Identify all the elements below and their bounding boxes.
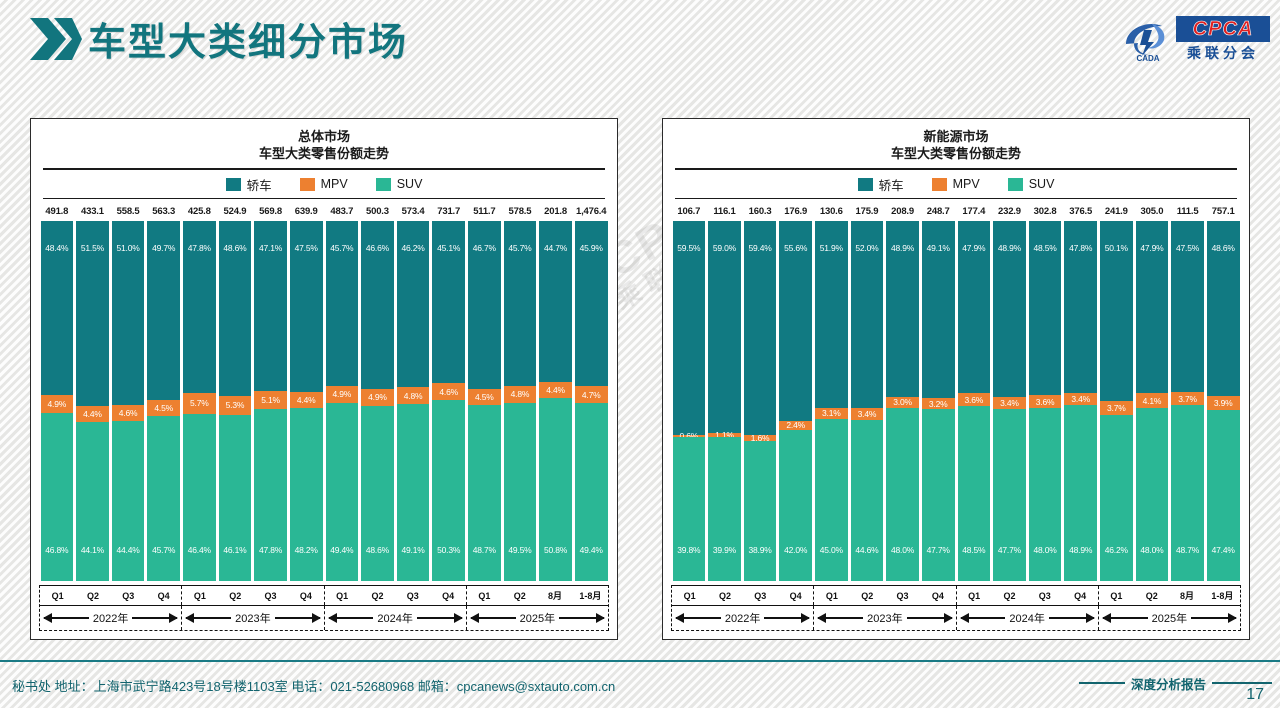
- bar-column[interactable]: 46.7%4.5%48.7%: [468, 221, 501, 581]
- bar-segment-label: 3.9%: [1214, 398, 1233, 408]
- bar-segment-suv[interactable]: 49.4%: [575, 403, 608, 581]
- bar-segment-label: 52.0%: [855, 243, 878, 253]
- bar-segment-mpv[interactable]: 5.7%: [183, 393, 216, 414]
- bar-segment-car[interactable]: 51.0%: [112, 221, 145, 405]
- bar-segment-car[interactable]: 59.0%: [708, 221, 741, 433]
- legend-swatch-car-icon: [858, 178, 873, 191]
- bar-segment-car[interactable]: 47.5%: [1171, 221, 1204, 392]
- legend-swatch-suv-icon: [1008, 178, 1023, 191]
- total-value: 433.1: [75, 206, 111, 217]
- bar-segment-mpv[interactable]: 3.2%: [922, 398, 955, 410]
- bar-column[interactable]: 47.9%4.1%48.0%: [1136, 221, 1169, 581]
- bar-segment-car[interactable]: 47.5%: [290, 221, 323, 392]
- total-value: 176.9: [778, 206, 814, 217]
- total-value: 177.4: [956, 206, 992, 217]
- legend-swatch-suv-icon: [376, 178, 391, 191]
- total-value: 106.7: [671, 206, 707, 217]
- bar-segment-mpv[interactable]: 4.9%: [361, 389, 394, 407]
- total-value: 511.7: [467, 206, 503, 217]
- axis-tick-label: Q4: [288, 586, 324, 605]
- page-number: 17: [1246, 686, 1264, 704]
- bar-segment-suv[interactable]: 45.7%: [147, 416, 180, 581]
- bar-segment-label: 47.8%: [259, 545, 282, 555]
- bar-segment-mpv[interactable]: 4.6%: [432, 383, 465, 400]
- total-value: 425.8: [182, 206, 218, 217]
- axis-year-label: 2023年: [863, 610, 906, 626]
- bar-segment-car[interactable]: 47.8%: [1064, 221, 1097, 393]
- bar-column[interactable]: 47.5%4.4%48.2%: [290, 221, 323, 581]
- legend-item-mpv: MPV: [932, 177, 980, 191]
- total-value: 573.4: [395, 206, 431, 217]
- bar-segment-label: 47.9%: [1140, 243, 1163, 253]
- bar-segment-suv[interactable]: 45.0%: [815, 419, 848, 581]
- bar-segment-suv[interactable]: 50.3%: [432, 400, 465, 581]
- bar-column[interactable]: 55.6%2.4%42.0%: [779, 221, 812, 581]
- axis-year-group: 2022年: [40, 606, 182, 630]
- bar-column[interactable]: 45.9%4.7%49.4%: [575, 221, 608, 581]
- bar-segment-car[interactable]: 47.8%: [183, 221, 216, 393]
- bar-column[interactable]: 51.0%4.6%44.4%: [112, 221, 145, 581]
- bar-segment-suv[interactable]: 47.7%: [993, 409, 1026, 581]
- bar-segment-label: 50.1%: [1105, 243, 1128, 253]
- bar-segment-mpv[interactable]: 3.4%: [993, 397, 1026, 409]
- bar-segment-mpv[interactable]: 3.1%: [815, 408, 848, 419]
- bar-column[interactable]: 59.0%1.1%39.9%: [708, 221, 741, 581]
- bar-segment-mpv[interactable]: 4.9%: [326, 386, 359, 404]
- bar-segment-mpv[interactable]: 3.9%: [1207, 396, 1240, 410]
- bar-column[interactable]: 59.5%0.6%39.8%: [673, 221, 706, 581]
- bar-segment-label: 47.4%: [1212, 545, 1235, 555]
- bar-segment-mpv[interactable]: 3.0%: [886, 397, 919, 408]
- bar-segment-suv[interactable]: 48.7%: [1171, 405, 1204, 580]
- axis-tick-label: Q1: [467, 586, 502, 605]
- chart-subtitle: 车型大类零售份额走势: [31, 145, 617, 162]
- bar-column[interactable]: 49.1%3.2%47.7%: [922, 221, 955, 581]
- bar-segment-mpv[interactable]: 4.6%: [112, 405, 145, 422]
- totals-row: 106.7116.1160.3176.9130.6175.9208.9248.7…: [663, 201, 1249, 221]
- axis-tick-label: Q3: [111, 586, 146, 605]
- bar-segment-car[interactable]: 51.5%: [76, 221, 109, 406]
- bar-column[interactable]: 45.7%4.8%49.5%: [504, 221, 537, 581]
- bar-segment-label: 5.3%: [226, 400, 245, 410]
- chart-panel-nev: 新能源市场 车型大类零售份额走势 轿车 MPV SUV 106.7116.116…: [662, 118, 1250, 640]
- svg-text:CADA: CADA: [1136, 54, 1159, 62]
- bar-segment-label: 49.1%: [402, 545, 425, 555]
- logo-wordmark: CPCA 乘联分会: [1176, 16, 1270, 64]
- axis-year-group: 2025年: [1099, 606, 1240, 630]
- axis-year-group: 2024年: [957, 606, 1099, 630]
- bar-segment-label: 4.9%: [48, 399, 67, 409]
- bar-segment-label: 47.1%: [259, 243, 282, 253]
- bar-segment-car[interactable]: 50.1%: [1100, 221, 1133, 401]
- chart-legend: 轿车 MPV SUV: [663, 170, 1249, 198]
- bar-segment-car[interactable]: 48.9%: [886, 221, 919, 397]
- bar-segment-car[interactable]: 48.9%: [993, 221, 1026, 397]
- bar-segment-label: 51.0%: [117, 243, 140, 253]
- bar-segment-suv[interactable]: 49.1%: [397, 404, 430, 581]
- legend-swatch-car-icon: [226, 178, 241, 191]
- bar-segment-mpv[interactable]: 4.9%: [41, 395, 74, 413]
- bar-segment-label: 47.5%: [295, 243, 318, 253]
- footer-divider: [0, 660, 1280, 662]
- bar-segment-label: 3.7%: [1107, 403, 1126, 413]
- bar-segment-label: 48.7%: [1176, 545, 1199, 555]
- total-value: 130.6: [814, 206, 850, 217]
- total-value: 757.1: [1205, 206, 1241, 217]
- bar-column[interactable]: 50.1%3.7%46.2%: [1100, 221, 1133, 581]
- total-value: 175.9: [849, 206, 885, 217]
- bar-segment-car[interactable]: 45.1%: [432, 221, 465, 383]
- bar-segment-mpv[interactable]: 5.1%: [254, 391, 287, 409]
- legend-label-car: 轿车: [879, 175, 904, 194]
- total-value: 241.9: [1099, 206, 1135, 217]
- bar-segment-suv[interactable]: 50.8%: [539, 398, 572, 581]
- bar-segment-label: 47.5%: [1176, 243, 1199, 253]
- bar-column[interactable]: 48.9%3.4%47.7%: [993, 221, 1026, 581]
- chart-title: 新能源市场: [663, 128, 1249, 145]
- axis-tick-row: Q1Q2Q3Q4Q1Q2Q3Q4Q1Q2Q3Q4Q1Q28月1-8月: [40, 586, 608, 606]
- bar-column[interactable]: 48.4%4.9%46.8%: [41, 221, 74, 581]
- bar-segment-suv[interactable]: 47.7%: [922, 409, 955, 581]
- bar-column[interactable]: 47.8%3.4%48.9%: [1064, 221, 1097, 581]
- bar-segment-car[interactable]: 46.7%: [468, 221, 501, 389]
- bar-segment-mpv[interactable]: 4.4%: [76, 406, 109, 422]
- axis-tick-label: Q1: [40, 586, 75, 605]
- legend-label-suv: SUV: [397, 177, 423, 191]
- bar-segment-label: 59.0%: [713, 243, 736, 253]
- bar-segment-car[interactable]: 47.1%: [254, 221, 287, 391]
- bar-segment-suv[interactable]: 48.0%: [1136, 408, 1169, 581]
- bar-column[interactable]: 59.4%1.6%38.9%: [744, 221, 777, 581]
- logo-sub-text: 乘联分会: [1176, 43, 1270, 63]
- legend-label-car: 轿车: [247, 175, 272, 194]
- axis-year-row: 2022年2023年2024年2025年: [672, 606, 1240, 630]
- axis-tick-label: Q2: [75, 586, 110, 605]
- total-value: 208.9: [885, 206, 921, 217]
- axis-tick-label: Q1: [672, 586, 707, 605]
- bar-segment-suv[interactable]: 49.5%: [504, 403, 537, 581]
- bar-segment-mpv[interactable]: 4.5%: [147, 400, 180, 416]
- bar-segment-car[interactable]: 48.6%: [219, 221, 252, 396]
- bar-segment-suv[interactable]: 48.6%: [361, 406, 394, 581]
- bar-segment-mpv[interactable]: 4.5%: [468, 389, 501, 405]
- bar-segment-mpv[interactable]: 3.6%: [958, 393, 991, 406]
- bar-segment-label: 45.9%: [580, 243, 603, 253]
- bar-segment-label: 5.7%: [190, 398, 209, 408]
- bar-segment-label: 48.6%: [366, 545, 389, 555]
- bar-segment-label: 48.6%: [1212, 243, 1235, 253]
- total-value: 305.0: [1134, 206, 1170, 217]
- bar-segment-car[interactable]: 47.9%: [1136, 221, 1169, 393]
- bar-segment-mpv[interactable]: 2.4%: [779, 421, 812, 430]
- footer-rule-right: [1212, 682, 1272, 684]
- bar-segment-label: 46.2%: [402, 243, 425, 253]
- bar-segment-label: 45.7%: [152, 545, 175, 555]
- bar-column[interactable]: 46.6%4.9%48.6%: [361, 221, 394, 581]
- axis-tick-label: Q3: [395, 586, 430, 605]
- bar-segment-label: 46.2%: [1105, 545, 1128, 555]
- bar-segment-label: 47.7%: [927, 545, 950, 555]
- bar-segment-suv[interactable]: 48.2%: [290, 408, 323, 581]
- bar-segment-car[interactable]: 45.7%: [504, 221, 537, 386]
- bar-segment-label: 49.7%: [152, 243, 175, 253]
- bar-segment-label: 3.6%: [965, 395, 984, 405]
- legend-label-mpv: MPV: [953, 177, 980, 191]
- bar-column[interactable]: 45.7%4.9%49.4%: [326, 221, 359, 581]
- bar-segment-label: 44.1%: [81, 545, 104, 555]
- bar-segment-suv[interactable]: 49.4%: [326, 403, 359, 581]
- legend-item-car: 轿车: [858, 175, 904, 194]
- total-value: 578.5: [502, 206, 538, 217]
- bar-segment-label: 48.9%: [1069, 545, 1092, 555]
- bar-column[interactable]: 45.1%4.6%50.3%: [432, 221, 465, 581]
- axis-tick-label: Q1: [957, 586, 992, 605]
- axis-tick-label: Q2: [502, 586, 537, 605]
- bar-segment-label: 48.4%: [45, 243, 68, 253]
- legend-label-suv: SUV: [1029, 177, 1055, 191]
- axis-tick-label: Q4: [920, 586, 956, 605]
- bar-segment-label: 46.4%: [188, 545, 211, 555]
- bar-segment-mpv[interactable]: 5.3%: [219, 396, 252, 415]
- bar-segment-label: 44.4%: [117, 545, 140, 555]
- bars-row: 48.4%4.9%46.8%51.5%4.4%44.1%51.0%4.6%44.…: [31, 221, 617, 581]
- bar-segment-suv[interactable]: 44.4%: [112, 421, 145, 581]
- total-value: 201.8: [538, 206, 574, 217]
- bar-segment-label: 3.6%: [1036, 397, 1055, 407]
- bar-segment-label: 45.7%: [508, 243, 531, 253]
- bar-segment-suv[interactable]: 39.9%: [708, 437, 741, 581]
- bar-segment-mpv[interactable]: 4.8%: [504, 386, 537, 403]
- bar-segment-label: 51.5%: [81, 243, 104, 253]
- bar-segment-car[interactable]: 48.4%: [41, 221, 74, 395]
- bar-segment-mpv[interactable]: 3.4%: [851, 408, 884, 420]
- footer-rule-left: [1079, 682, 1125, 684]
- axis-tick-label: Q4: [778, 586, 814, 605]
- bar-column[interactable]: 51.5%4.4%44.1%: [76, 221, 109, 581]
- bar-segment-suv[interactable]: 38.9%: [744, 441, 777, 581]
- bar-segment-label: 4.1%: [1143, 396, 1162, 406]
- bar-segment-suv[interactable]: 46.4%: [183, 414, 216, 581]
- bar-segment-mpv[interactable]: 4.4%: [290, 392, 323, 408]
- bar-column[interactable]: 49.7%4.5%45.7%: [147, 221, 180, 581]
- axis-tick-row: Q1Q2Q3Q4Q1Q2Q3Q4Q1Q2Q3Q4Q1Q28月1-8月: [672, 586, 1240, 606]
- legend-item-suv: SUV: [1008, 177, 1055, 191]
- bar-segment-label: 48.0%: [891, 545, 914, 555]
- bar-segment-car[interactable]: 45.9%: [575, 221, 608, 386]
- axis-year-group: 2025年: [467, 606, 608, 630]
- bar-segment-label: 50.8%: [544, 545, 567, 555]
- bar-segment-label: 47.8%: [1069, 243, 1092, 253]
- bar-segment-label: 3.4%: [1071, 394, 1090, 404]
- slide-header: 车型大类细分市场 CADA CPCA 乘联分会: [0, 0, 1280, 88]
- slide-footer: 秘书处 地址：上海市武宁路423号18号楼1103室 电话：021-526809…: [0, 658, 1280, 708]
- bar-column[interactable]: 47.5%3.7%48.7%: [1171, 221, 1204, 581]
- bar-segment-mpv[interactable]: 4.4%: [539, 382, 572, 398]
- total-value: 248.7: [920, 206, 956, 217]
- bar-segment-label: 49.5%: [508, 545, 531, 555]
- bar-segment-suv[interactable]: 47.4%: [1207, 410, 1240, 581]
- bar-column[interactable]: 47.1%5.1%47.8%: [254, 221, 287, 581]
- total-value: 160.3: [742, 206, 778, 217]
- bar-column[interactable]: 48.6%5.3%46.1%: [219, 221, 252, 581]
- bar-segment-suv[interactable]: 48.0%: [1029, 408, 1062, 581]
- total-value: 116.1: [707, 206, 743, 217]
- bar-segment-suv[interactable]: 48.9%: [1064, 405, 1097, 581]
- bar-segment-label: 4.4%: [546, 385, 565, 395]
- bar-segment-suv[interactable]: 46.2%: [1100, 415, 1133, 581]
- chart-subtitle: 车型大类零售份额走势: [663, 145, 1249, 162]
- bar-segment-label: 39.9%: [713, 545, 736, 555]
- bar-segment-suv[interactable]: 42.0%: [779, 430, 812, 581]
- bar-segment-mpv[interactable]: 4.8%: [397, 387, 430, 404]
- bar-segment-suv[interactable]: 46.8%: [41, 413, 74, 581]
- bar-segment-label: 3.0%: [893, 397, 912, 407]
- bar-segment-car[interactable]: 44.7%: [539, 221, 572, 382]
- total-value: 302.8: [1027, 206, 1063, 217]
- axis-year-label: 2025年: [1148, 610, 1191, 626]
- bar-segment-label: 46.1%: [223, 545, 246, 555]
- bar-segment-mpv[interactable]: 4.1%: [1136, 393, 1169, 408]
- axis-tick-label: Q3: [743, 586, 778, 605]
- bar-segment-mpv[interactable]: 3.4%: [1064, 393, 1097, 405]
- bar-segment-suv[interactable]: 48.7%: [468, 405, 501, 580]
- bar-segment-label: 59.5%: [677, 243, 700, 253]
- bar-segment-suv[interactable]: 48.0%: [886, 408, 919, 581]
- logo-brand-text: CPCA: [1176, 16, 1270, 42]
- bar-segment-label: 45.1%: [437, 243, 460, 253]
- bar-column[interactable]: 46.2%4.8%49.1%: [397, 221, 430, 581]
- total-value: 563.3: [146, 206, 182, 217]
- bar-segment-label: 39.8%: [677, 545, 700, 555]
- bar-segment-label: 38.9%: [749, 545, 772, 555]
- axis-tick-label: 8月: [537, 586, 572, 605]
- axis-tick-label: Q1: [325, 586, 360, 605]
- bar-segment-car[interactable]: 48.5%: [1029, 221, 1062, 395]
- axis-year-row: 2022年2023年2024年2025年: [40, 606, 608, 630]
- axis-year-label: 2022年: [721, 610, 764, 626]
- bar-segment-mpv[interactable]: 4.7%: [575, 386, 608, 403]
- cpca-logo: CADA CPCA 乘联分会: [1122, 14, 1270, 66]
- bar-segment-label: 47.7%: [998, 545, 1021, 555]
- bar-column[interactable]: 48.9%3.0%48.0%: [886, 221, 919, 581]
- bar-segment-car[interactable]: 46.2%: [397, 221, 430, 387]
- bar-segment-mpv[interactable]: 3.7%: [1171, 392, 1204, 405]
- bar-segment-car[interactable]: 55.6%: [779, 221, 812, 421]
- axis-year-label: 2024年: [373, 610, 416, 626]
- bar-segment-label: 4.6%: [119, 408, 138, 418]
- axis-year-label: 2025年: [516, 610, 559, 626]
- bar-segment-suv[interactable]: 44.1%: [76, 422, 109, 581]
- bar-segment-label: 44.6%: [855, 545, 878, 555]
- bar-segment-label: 47.8%: [188, 243, 211, 253]
- bar-segment-label: 44.7%: [544, 243, 567, 253]
- bar-segment-label: 3.4%: [858, 409, 877, 419]
- bar-segment-label: 47.9%: [962, 243, 985, 253]
- bar-segment-label: 48.5%: [1034, 243, 1057, 253]
- bar-column[interactable]: 44.7%4.4%50.8%: [539, 221, 572, 581]
- bar-segment-suv[interactable]: 44.6%: [851, 420, 884, 581]
- total-value: 524.9: [217, 206, 253, 217]
- axis-tick-label: Q3: [253, 586, 288, 605]
- bar-segment-label: 4.8%: [404, 391, 423, 401]
- bar-segment-car[interactable]: 59.4%: [744, 221, 777, 435]
- legend-item-mpv: MPV: [300, 177, 348, 191]
- bar-column[interactable]: 47.8%5.7%46.4%: [183, 221, 216, 581]
- bar-segment-car[interactable]: 49.7%: [147, 221, 180, 400]
- bar-segment-label: 3.7%: [1178, 394, 1197, 404]
- bar-segment-car[interactable]: 49.1%: [922, 221, 955, 398]
- bar-segment-car[interactable]: 47.9%: [958, 221, 991, 393]
- bar-segment-mpv[interactable]: 3.6%: [1029, 395, 1062, 408]
- bar-segment-mpv[interactable]: 3.7%: [1100, 401, 1133, 414]
- bar-segment-label: 4.6%: [439, 387, 458, 397]
- x-axis: Q1Q2Q3Q4Q1Q2Q3Q4Q1Q2Q3Q4Q1Q28月1-8月2022年2…: [671, 585, 1241, 631]
- bar-segment-car[interactable]: 51.9%: [815, 221, 848, 408]
- bar-segment-car[interactable]: 46.6%: [361, 221, 394, 389]
- bars-row: 59.5%0.6%39.8%59.0%1.1%39.9%59.4%1.6%38.…: [663, 221, 1249, 581]
- page-title: 车型大类细分市场: [88, 11, 408, 66]
- bar-column[interactable]: 48.5%3.6%48.0%: [1029, 221, 1062, 581]
- chart-legend: 轿车 MPV SUV: [31, 170, 617, 198]
- bar-segment-label: 48.7%: [473, 545, 496, 555]
- bar-segment-label: 49.1%: [927, 243, 950, 253]
- bar-segment-label: 3.1%: [822, 408, 841, 418]
- axis-tick-label: Q1: [182, 586, 217, 605]
- bar-column[interactable]: 47.9%3.6%48.5%: [958, 221, 991, 581]
- bar-segment-suv[interactable]: 48.5%: [958, 406, 991, 581]
- axis-tick-label: Q3: [1027, 586, 1062, 605]
- axis-tick-label: Q2: [992, 586, 1027, 605]
- chart-title-block: 总体市场 车型大类零售份额走势: [31, 119, 617, 162]
- bar-segment-car[interactable]: 52.0%: [851, 221, 884, 408]
- axis-year-group: 2024年: [325, 606, 467, 630]
- axis-year-label: 2023年: [231, 610, 274, 626]
- total-value: 731.7: [431, 206, 467, 217]
- bar-segment-car[interactable]: 48.6%: [1207, 221, 1240, 396]
- bar-segment-label: 51.9%: [820, 243, 843, 253]
- legend-item-suv: SUV: [376, 177, 423, 191]
- bar-segment-suv[interactable]: 46.1%: [219, 415, 252, 581]
- axis-wrap: Q1Q2Q3Q4Q1Q2Q3Q4Q1Q2Q3Q4Q1Q28月1-8月2022年2…: [663, 581, 1249, 631]
- axis-year-label: 2024年: [1005, 610, 1048, 626]
- bar-segment-label: 48.5%: [962, 545, 985, 555]
- axis-tick-label: Q2: [850, 586, 885, 605]
- bar-segment-suv[interactable]: 47.8%: [254, 409, 287, 581]
- chart-panel-overall: 总体市场 车型大类零售份额走势 轿车 MPV SUV 491.8433.1558…: [30, 118, 618, 640]
- bar-segment-label: 4.5%: [475, 392, 494, 402]
- bar-segment-label: 5.1%: [261, 395, 280, 405]
- bar-segment-label: 42.0%: [784, 545, 807, 555]
- legend-label-mpv: MPV: [321, 177, 348, 191]
- legend-item-car: 轿车: [226, 175, 272, 194]
- bar-column[interactable]: 51.9%3.1%45.0%: [815, 221, 848, 581]
- bar-column[interactable]: 52.0%3.4%44.6%: [851, 221, 884, 581]
- bar-segment-label: 46.6%: [366, 243, 389, 253]
- bar-segment-label: 59.4%: [749, 243, 772, 253]
- bar-segment-car[interactable]: 45.7%: [326, 221, 359, 386]
- bar-column[interactable]: 48.6%3.9%47.4%: [1207, 221, 1240, 581]
- axis-tick-label: Q4: [1062, 586, 1098, 605]
- bar-segment-label: 4.8%: [511, 389, 530, 399]
- axis-tick-label: 1-8月: [573, 586, 608, 605]
- caam-swirl-icon: CADA: [1122, 18, 1174, 62]
- bar-segment-suv[interactable]: 39.8%: [673, 437, 706, 580]
- axis-wrap: Q1Q2Q3Q4Q1Q2Q3Q4Q1Q2Q3Q4Q1Q28月1-8月2022年2…: [31, 581, 617, 631]
- axis-year-group: 2023年: [814, 606, 956, 630]
- bar-segment-car[interactable]: 59.5%: [673, 221, 706, 435]
- bar-segment-label: 49.4%: [330, 545, 353, 555]
- bar-segment-label: 46.7%: [473, 243, 496, 253]
